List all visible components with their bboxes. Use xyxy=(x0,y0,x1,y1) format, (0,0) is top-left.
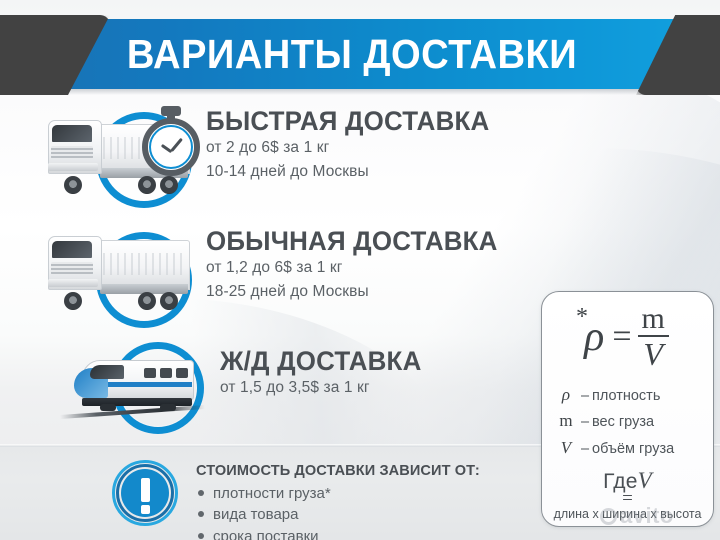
delivery-option-fast: БЫСТРАЯ ДОСТАВКА от 2 до 6$ за 1 кг 10-1… xyxy=(36,100,501,205)
header-banner: ВАРИАНТЫ ДОСТАВКИ xyxy=(0,19,720,89)
legend-text: вес груза xyxy=(592,411,654,433)
stopwatch-icon xyxy=(138,104,204,176)
avito-watermark: avito xyxy=(600,500,712,532)
option-title: Ж/Д ДОСТАВКА xyxy=(220,348,421,375)
option-duration: 10-14 дней до Москвы xyxy=(206,162,501,183)
legend-symbol: ρ xyxy=(554,382,578,408)
banner-shadow xyxy=(22,89,682,95)
formula-fraction: m V xyxy=(636,304,671,370)
legend-row-volume: V – объём груза xyxy=(554,435,713,461)
cost-factors-list: плотности груза* вида товара срока поста… xyxy=(196,483,496,540)
legend-symbol: m xyxy=(554,408,578,434)
delivery-option-regular: ОБЫЧНАЯ ДОСТАВКА от 1,2 до 6$ за 1 кг 18… xyxy=(36,216,510,321)
option-price: от 1,2 до 6$ за 1 кг xyxy=(206,258,510,279)
list-item: срока поставки xyxy=(196,526,496,540)
delivery-option-text: ОБЫЧНАЯ ДОСТАВКА от 1,2 до 6$ за 1 кг 18… xyxy=(206,216,510,303)
legend-dash: – xyxy=(578,411,592,433)
formula-asterisk: * xyxy=(576,304,588,331)
truck-with-stopwatch-icon xyxy=(36,100,206,205)
truck-graphic xyxy=(42,232,192,312)
list-item: плотности груза* xyxy=(196,483,496,504)
watermark-text: avito xyxy=(620,503,674,529)
legend-row-mass: m – вес груза xyxy=(554,408,713,434)
legend-dash: – xyxy=(578,438,592,460)
density-formula-card: * ρ = m V ρ – плотность m – вес груза V xyxy=(541,291,714,527)
formula-legend: ρ – плотность m – вес груза V – объём гр… xyxy=(542,382,713,461)
legend-row-density: ρ – плотность xyxy=(554,382,713,408)
where-symbol: V xyxy=(638,468,652,493)
formula-equals: = xyxy=(608,318,635,356)
train-icon xyxy=(50,334,220,439)
density-formula: * ρ = m V xyxy=(542,298,713,376)
truck-icon xyxy=(36,216,206,321)
delivery-option-rail: Ж/Д ДОСТАВКА от 1,5 до 3,5$ за 1 кг xyxy=(50,334,430,439)
cost-factors-title: СТОИМОСТЬ ДОСТАВКИ ЗАВИСИТ ОТ: xyxy=(196,462,487,479)
page-title: ВАРИАНТЫ ДОСТАВКИ xyxy=(45,19,659,89)
legend-dash: – xyxy=(578,385,592,407)
formula-denominator: V xyxy=(637,334,669,372)
delivery-option-text: БЫСТРАЯ ДОСТАВКА от 2 до 6$ за 1 кг 10-1… xyxy=(206,100,501,183)
legend-symbol: V xyxy=(554,435,578,461)
train-graphic xyxy=(60,352,205,422)
watermark-circle-icon xyxy=(600,508,617,525)
exclamation-circle-icon xyxy=(112,460,178,526)
legend-text: объём груза xyxy=(592,438,674,460)
delivery-options-poster: ВАРИАНТЫ ДОСТАВКИ xyxy=(0,0,720,540)
cost-factors-block: СТОИМОСТЬ ДОСТАВКИ ЗАВИСИТ ОТ: плотности… xyxy=(196,462,496,540)
formula-numerator: m xyxy=(636,302,671,337)
option-title: БЫСТРАЯ ДОСТАВКА xyxy=(206,108,489,135)
legend-text: плотность xyxy=(592,385,660,407)
option-title: ОБЫЧНАЯ ДОСТАВКА xyxy=(206,228,498,255)
option-price: от 1,5 до 3,5$ за 1 кг xyxy=(220,378,430,399)
delivery-option-text: Ж/Д ДОСТАВКА от 1,5 до 3,5$ за 1 кг xyxy=(220,334,430,399)
option-price: от 2 до 6$ за 1 кг xyxy=(206,138,501,159)
option-duration: 18-25 дней до Москвы xyxy=(206,282,510,303)
list-item: вида товара xyxy=(196,504,496,525)
